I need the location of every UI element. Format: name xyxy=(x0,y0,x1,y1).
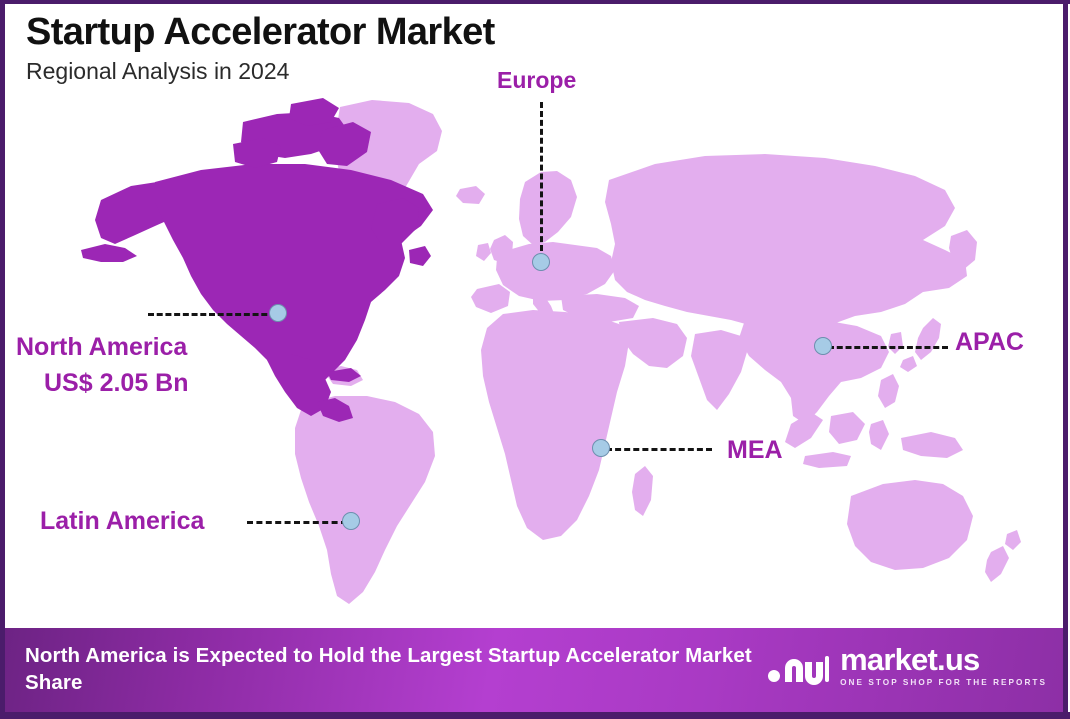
leader-line-apac xyxy=(828,346,948,349)
map-marker-north-america[interactable] xyxy=(269,304,287,322)
region-label-mea: MEA xyxy=(727,436,783,465)
footer-banner: North America is Expected to Hold the La… xyxy=(5,628,1063,712)
logo-wordmark: market.us xyxy=(840,644,1047,675)
region-label-apac: APAC xyxy=(955,328,1024,357)
region-value-north-america: US$ 2.05 Bn xyxy=(44,369,189,398)
leader-line-north-america xyxy=(148,313,276,316)
frame-border-right xyxy=(1063,0,1068,719)
frame-border-left xyxy=(0,0,5,719)
market-us-bars-logo-mark xyxy=(767,646,829,686)
logo-text-block: market.us ONE STOP SHOP FOR THE REPORTS xyxy=(840,644,1047,687)
map-marker-mea[interactable] xyxy=(592,439,610,457)
leader-line-latin-america xyxy=(247,521,347,524)
map-marker-apac[interactable] xyxy=(814,337,832,355)
map-annotations: North America US$ 2.05 Bn Europe APAC ME… xyxy=(0,0,1070,628)
leader-line-mea xyxy=(606,448,712,451)
banner-headline: North America is Expected to Hold the La… xyxy=(25,642,765,697)
frame-border-top xyxy=(0,0,1070,4)
leader-line-europe xyxy=(540,102,543,260)
frame-border-bottom xyxy=(0,712,1070,719)
region-label-north-america: North America xyxy=(16,333,187,362)
map-marker-latin-america[interactable] xyxy=(342,512,360,530)
region-label-europe: Europe xyxy=(497,67,576,94)
market-us-logo[interactable]: market.us ONE STOP SHOP FOR THE REPORTS xyxy=(767,644,1047,687)
infographic-root: Startup Accelerator Market Regional Anal… xyxy=(0,0,1070,719)
region-label-latin-america: Latin America xyxy=(40,507,204,536)
map-marker-europe[interactable] xyxy=(532,253,550,271)
logo-tagline: ONE STOP SHOP FOR THE REPORTS xyxy=(840,679,1047,687)
